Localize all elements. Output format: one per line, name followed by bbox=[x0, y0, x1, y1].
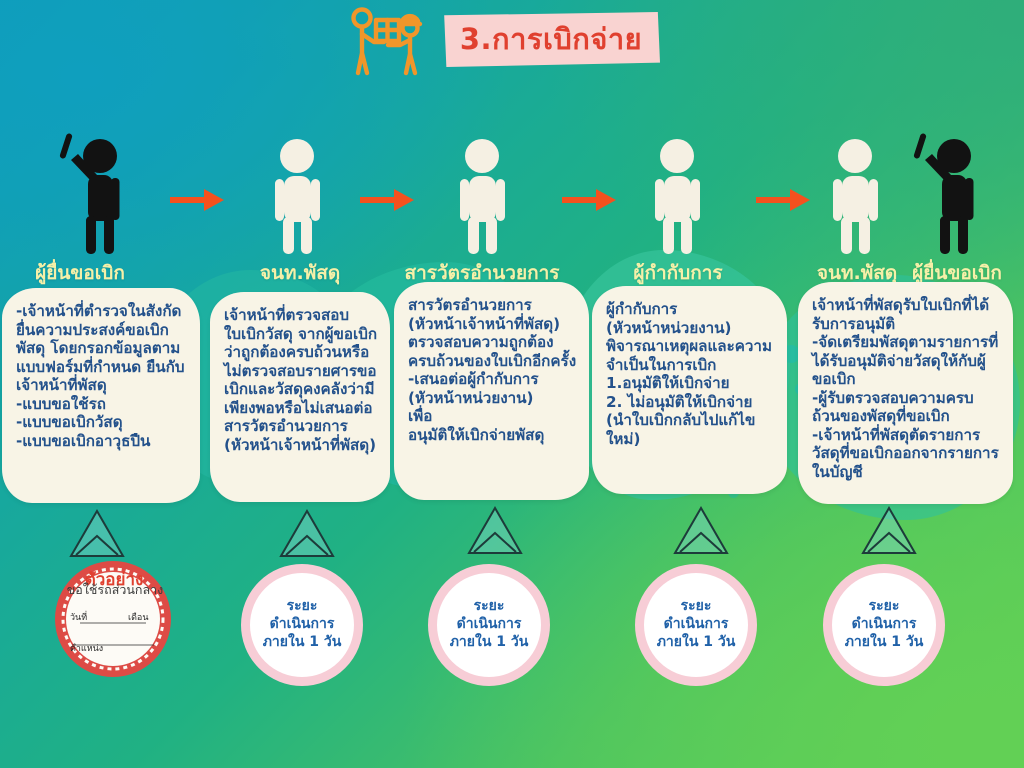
step-card-4[interactable]: ผู้กำกับการ(หัวหน้าหน่วยงาน)พิจารณาเหตุผ… bbox=[592, 286, 787, 494]
right-arrow-icon-2 bbox=[360, 186, 416, 214]
person-raising-hand-icon-1 bbox=[42, 130, 162, 255]
step-card-body-3: สารวัตรอำนวยการ(หัวหน้าเจ้าหน้าที่พัสดุ)… bbox=[408, 296, 577, 444]
delivery-person-box-icon bbox=[346, 4, 424, 76]
stamp-form-text: ขอใช้รถส่วนกลาง bbox=[40, 580, 190, 600]
person-standing-icon-4 bbox=[620, 130, 740, 255]
up-triangle-icon-2 bbox=[278, 508, 336, 560]
page-title: 3.การเบิกจ่าย bbox=[460, 25, 642, 54]
step-card-body-2: เจ้าหน้าที่ตรวจสอบใบเบิกวัสดุ จากผู้ขอเบ… bbox=[224, 306, 378, 454]
stamp-field-date: วันที่ bbox=[70, 610, 87, 624]
right-arrow-icon-1 bbox=[170, 186, 226, 214]
person-standing-icon-2 bbox=[240, 130, 360, 255]
duration-text-4: ระยะดำเนินการภายใน 1 วัน bbox=[657, 598, 736, 652]
title-banner: 3.การเบิกจ่าย bbox=[442, 12, 660, 67]
stamp-field-position: ตำแหน่ง bbox=[70, 641, 103, 655]
step-label-1: ผู้ยื่นขอเบิก bbox=[0, 258, 165, 288]
step-label-4: ผู้กำกับการ bbox=[593, 258, 763, 288]
step-card-body-5: เจ้าหน้าที่พัสดุรับใบเบิกที่ได้รับการอนุ… bbox=[812, 296, 1001, 481]
up-triangle-icon-3 bbox=[466, 505, 524, 557]
up-triangle-icon-1 bbox=[68, 508, 126, 560]
duration-text-3: ระยะดำเนินการภายใน 1 วัน bbox=[450, 598, 529, 652]
right-arrow-icon-3 bbox=[562, 186, 618, 214]
duration-circle-4[interactable]: ระยะดำเนินการภายใน 1 วัน bbox=[635, 564, 757, 686]
step-card-3[interactable]: สารวัตรอำนวยการ(หัวหน้าเจ้าหน้าที่พัสดุ)… bbox=[394, 282, 589, 500]
person-raising-hand-icon-6 bbox=[896, 130, 1016, 255]
header: 3.การเบิกจ่าย bbox=[0, 0, 1024, 86]
step-card-5[interactable]: เจ้าหน้าที่พัสดุรับใบเบิกที่ได้รับการอนุ… bbox=[798, 282, 1013, 504]
duration-circle-2[interactable]: ระยะดำเนินการภายใน 1 วัน bbox=[241, 564, 363, 686]
step-card-2[interactable]: เจ้าหน้าที่ตรวจสอบใบเบิกวัสดุ จากผู้ขอเบ… bbox=[210, 292, 390, 502]
person-standing-icon-3 bbox=[425, 130, 545, 255]
up-triangle-icon-5 bbox=[860, 505, 918, 557]
step-card-body-1: -เจ้าหน้าที่ตำรวจในสังกัดยื่นความประสงค์… bbox=[16, 302, 188, 450]
step-label-2: จนท.พัสดุ bbox=[215, 258, 385, 288]
step-card-body-4: ผู้กำกับการ(หัวหน้าหน่วยงาน)พิจารณาเหตุผ… bbox=[606, 300, 775, 448]
step-card-1[interactable]: -เจ้าหน้าที่ตำรวจในสังกัดยื่นความประสงค์… bbox=[2, 288, 200, 503]
stamp-field-month: เดือน bbox=[128, 610, 148, 624]
up-triangle-icon-4 bbox=[672, 505, 730, 557]
duration-circle-5[interactable]: ระยะดำเนินการภายใน 1 วัน bbox=[823, 564, 945, 686]
duration-text-2: ระยะดำเนินการภายใน 1 วัน bbox=[263, 598, 342, 652]
duration-circle-3[interactable]: ระยะดำเนินการภายใน 1 วัน bbox=[428, 564, 550, 686]
infographic-canvas: 3.การเบิกจ่าย ผู้ยื่นขอเบิก จนท.พัสดุ bbox=[0, 0, 1024, 768]
duration-text-5: ระยะดำเนินการภายใน 1 วัน bbox=[845, 598, 924, 652]
